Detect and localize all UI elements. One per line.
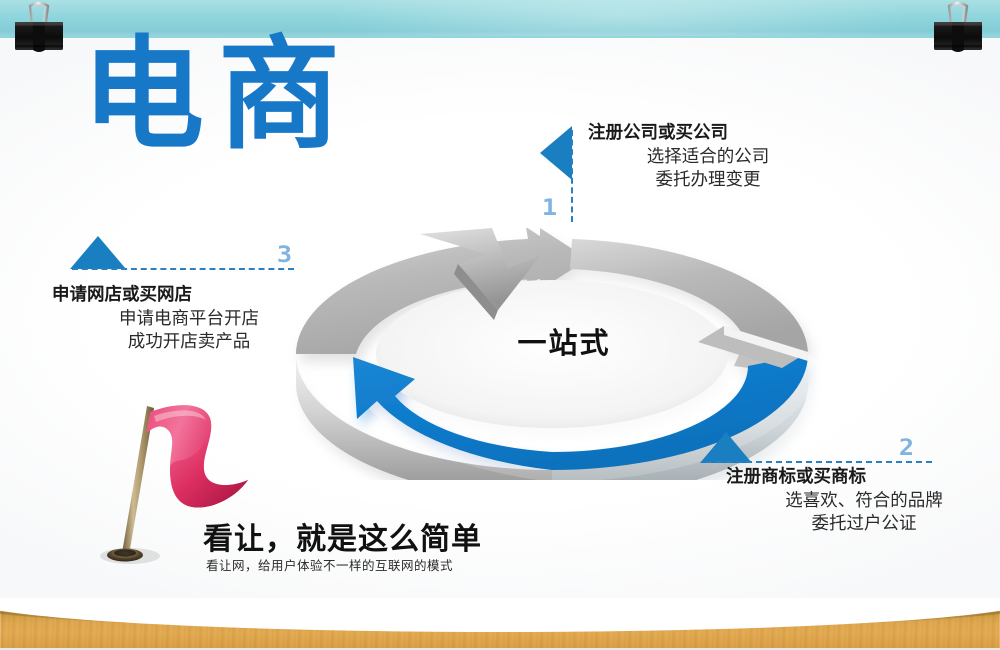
step-1-line-1: 选择适合的公司	[588, 146, 840, 170]
step-2-line-1: 选喜欢、符合的品牌	[726, 490, 1000, 514]
step-2-block: 注册商标或买商标 选喜欢、符合的品牌 委托过户公证	[726, 466, 1000, 537]
step-3-line-1: 申请电商平台开店	[52, 308, 332, 332]
binder-clip-right-icon	[932, 0, 984, 58]
step-3-triangle-icon	[70, 236, 126, 269]
step-2-triangle-icon	[700, 432, 752, 463]
tagline-main: 看让，就是这么简单	[203, 514, 482, 558]
step-2-number: 2	[899, 436, 915, 461]
binder-clip-left-icon	[13, 0, 65, 58]
page-title: 电商	[82, 34, 354, 156]
step-3-connector-line	[72, 268, 294, 270]
step-3-block: 申请网店或买网店 申请电商平台开店 成功开店卖产品	[52, 284, 332, 355]
slide-canvas: 电商	[0, 0, 1000, 650]
step-1-block: 注册公司或买公司 选择适合的公司 委托办理变更	[540, 122, 840, 193]
step-1-heading: 注册公司或买公司	[588, 122, 840, 146]
step-3-line-2: 成功开店卖产品	[52, 331, 332, 355]
tagline-sub: 看让网，给用户体验不一样的互联网的模式	[206, 555, 453, 574]
step-2-heading: 注册商标或买商标	[726, 466, 1000, 490]
step-1-line-2: 委托办理变更	[588, 169, 840, 193]
step-2-connector-line	[706, 461, 932, 463]
step-2-line-2: 委托过户公证	[726, 513, 1000, 537]
step-1-number: 1	[542, 196, 558, 221]
step-3-number: 3	[277, 243, 293, 268]
step-3-heading: 申请网店或买网店	[52, 284, 332, 308]
